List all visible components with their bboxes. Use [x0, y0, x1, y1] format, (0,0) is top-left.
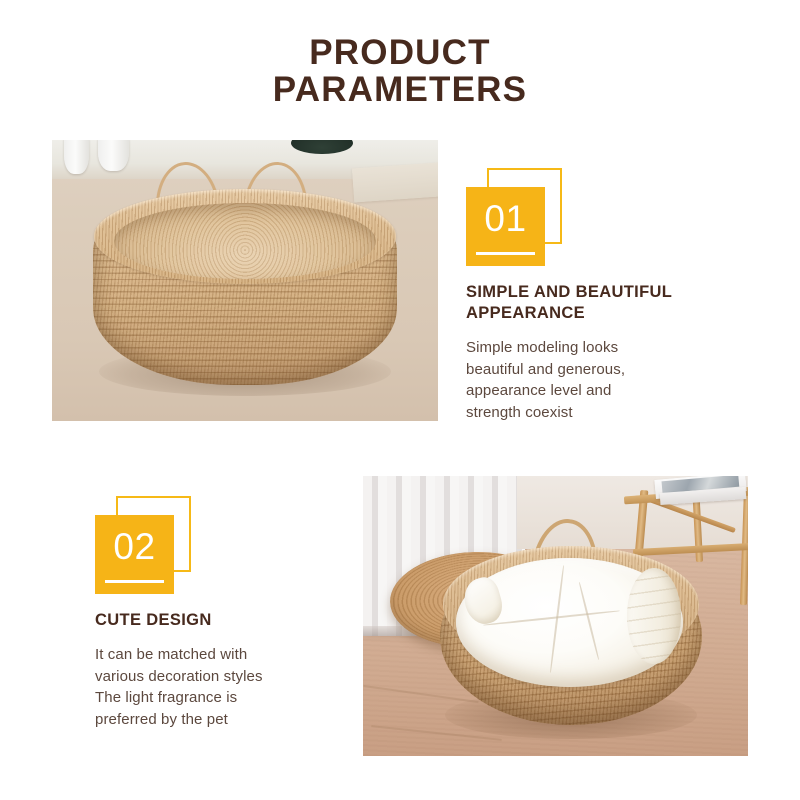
page-title-line-1: PRODUCT — [0, 34, 800, 71]
photo-white-cushion — [456, 558, 684, 687]
photo-cushion-bolster — [627, 568, 682, 663]
feature-block-02: 02 CUTE DESIGN It can be matched with va… — [95, 496, 395, 730]
photo-basket — [440, 538, 702, 740]
badge-number-text: 02 — [95, 526, 174, 568]
feature-body-02: It can be matched with various decoratio… — [95, 644, 345, 730]
product-photo-basket-with-cushion — [363, 476, 748, 756]
badge-solid-square: 01 — [466, 187, 545, 266]
photo-basket — [93, 174, 398, 399]
photo-cushion-seam — [578, 582, 599, 660]
badge-number-text: 01 — [466, 198, 545, 240]
photo-prop-bottle-right — [98, 140, 129, 171]
badge-underline-rule — [476, 252, 534, 255]
feature-heading-01: SIMPLE AND BEAUTIFUL APPEARANCE — [466, 282, 752, 324]
badge-underline-rule — [105, 580, 163, 583]
feature-body-01: Simple modeling looks beautiful and gene… — [466, 337, 716, 423]
badge-solid-square: 02 — [95, 515, 174, 594]
product-photo-basket-empty — [52, 140, 438, 421]
page-title: PRODUCT PARAMETERS — [0, 34, 800, 108]
photo-basket-interior — [114, 203, 376, 279]
page-title-line-2: PARAMETERS — [0, 71, 800, 108]
photo-cushion-seam — [549, 566, 564, 674]
feature-heading-02: CUTE DESIGN — [95, 610, 381, 631]
product-parameters-infographic: PRODUCT PARAMETERS 01 SIMPLE AND BEAUTIF… — [0, 0, 800, 800]
feature-block-01: 01 SIMPLE AND BEAUTIFUL APPEARANCE Simpl… — [466, 168, 766, 423]
photo-cushion-seam — [483, 610, 619, 626]
feature-number-badge-02: 02 — [95, 496, 195, 594]
photo-prop-bottle-left — [64, 140, 89, 174]
feature-number-badge-01: 01 — [466, 168, 566, 266]
